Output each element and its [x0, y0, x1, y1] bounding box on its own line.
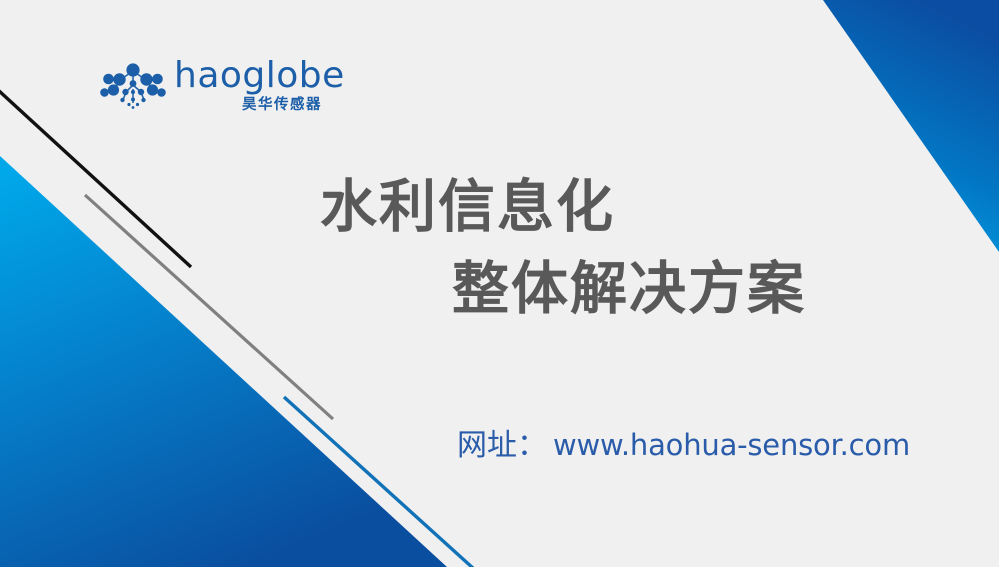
logo-subtitle-cn: 昊华传感器: [174, 96, 324, 114]
title-line-2: 整体解决方案: [320, 248, 940, 330]
title-slide: haoglobe 昊华传感器 水利信息化 整体解决方案 网址： www.haoh…: [0, 0, 999, 567]
haoglobe-network-dots-logo: [96, 59, 170, 111]
company-logo: haoglobe 昊华传感器: [96, 57, 326, 119]
website-url[interactable]: www.haohua-sensor.com: [553, 428, 910, 462]
title-line-1: 水利信息化: [320, 166, 940, 248]
page-title: 水利信息化 整体解决方案: [320, 166, 940, 330]
logo-text: haoglobe 昊华传感器: [174, 57, 324, 114]
diagonal-line-gray: [85, 195, 333, 419]
logo-wordmark: haoglobe: [174, 57, 324, 95]
website-line: 网址： www.haohua-sensor.com: [457, 420, 910, 464]
diagonal-line-blue: [284, 397, 474, 567]
website-label: 网址：: [457, 420, 547, 464]
